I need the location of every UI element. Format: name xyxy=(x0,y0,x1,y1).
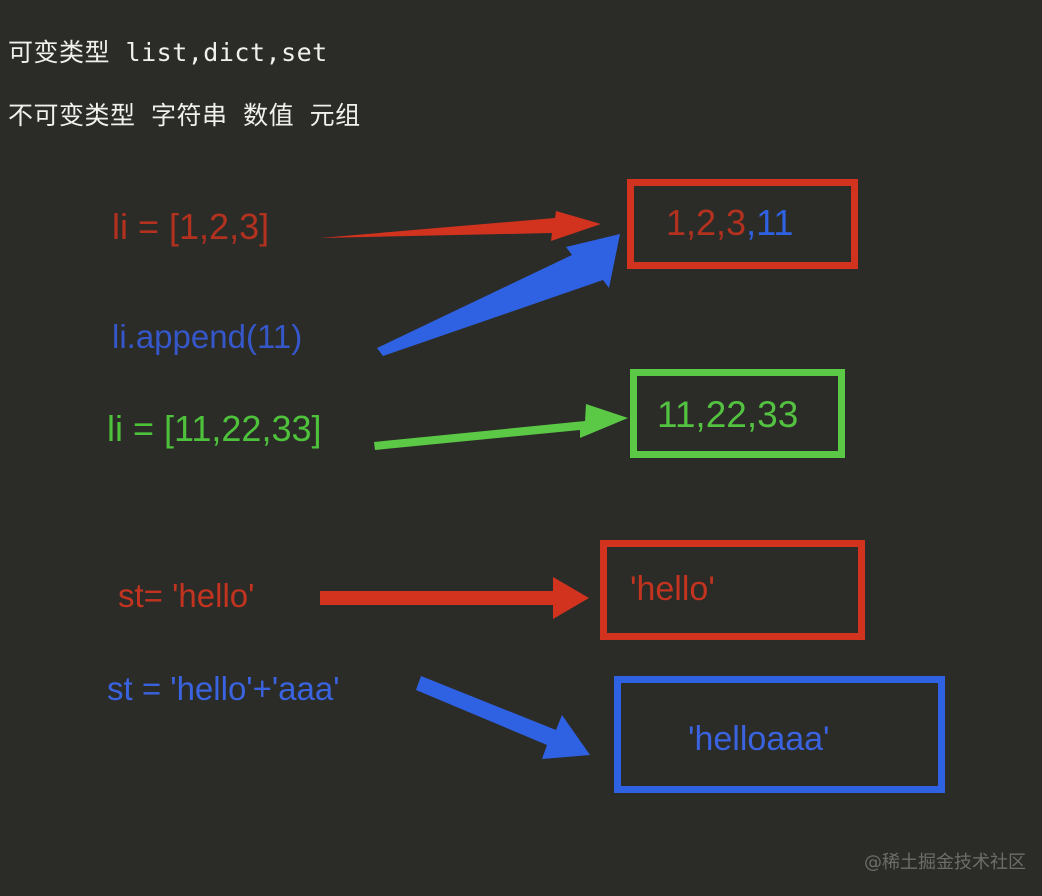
label-li-reassign: li = [11,22,33] xyxy=(107,411,322,447)
box-new-list-value-text: 11,22,33 xyxy=(657,396,798,433)
label-li-append-call: li.append(11) xyxy=(112,320,302,353)
box-string-helloaaa-text: 'helloaaa' xyxy=(688,722,830,756)
box-string-hello-text: 'hello' xyxy=(630,572,715,606)
arrow-right-icon-string-assign xyxy=(320,577,589,619)
header-immutable-types: 不可变类型 字符串 数值 元组 xyxy=(8,96,361,132)
arrow-right-icon-list-literal xyxy=(320,211,601,241)
label-st-concat: st = 'hello'+'aaa' xyxy=(107,672,340,705)
arrow-up-right-icon-list-append xyxy=(377,234,620,356)
header-mutable-types: 可变类型 list,dict,set xyxy=(8,33,328,69)
watermark-text: @稀土掘金技术社区 xyxy=(864,848,1026,874)
label-li-list-literal: li = [1,2,3] xyxy=(112,209,269,245)
diagram-canvas: 可变类型 list,dict,set 不可变类型 字符串 数值 元组 li = … xyxy=(0,0,1042,896)
box-list-original-items: 1,2,3 xyxy=(666,202,746,243)
box-list-value-text: 1,2,3,11 xyxy=(666,205,793,241)
arrow-down-right-icon-string-concat xyxy=(416,676,590,759)
label-st-assign: st= 'hello' xyxy=(118,579,254,612)
box-list-appended-item: ,11 xyxy=(746,202,793,243)
arrow-right-icon-list-reassign xyxy=(374,404,628,450)
